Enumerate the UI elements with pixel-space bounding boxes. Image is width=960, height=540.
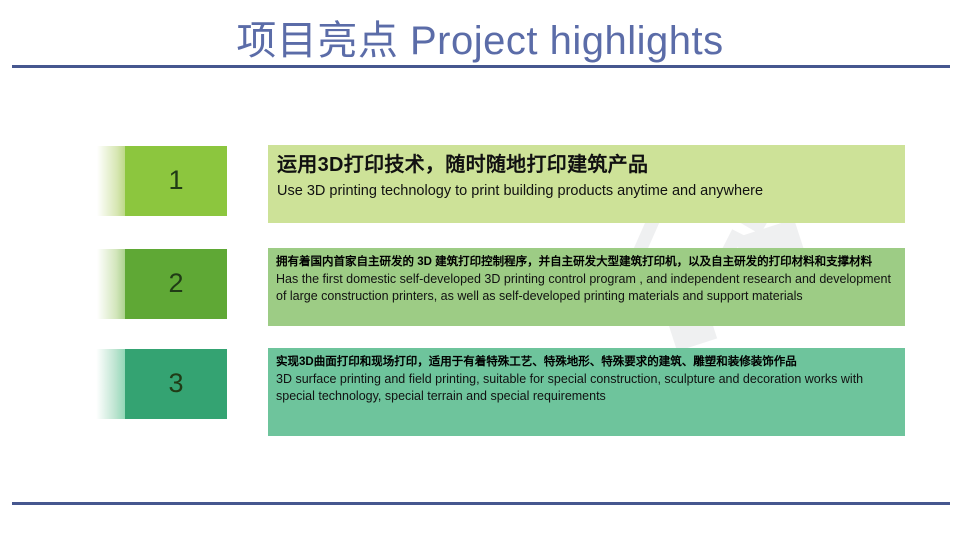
highlight-panel-1: 运用3D打印技术，随时随地打印建筑产品 Use 3D printing tech…: [268, 145, 905, 223]
highlight-panel-2: 拥有着国内首家自主研发的 3D 建筑打印控制程序，并自主研发大型建筑打印机，以及…: [268, 248, 905, 326]
title-divider: [12, 65, 950, 68]
badge-gradient-tab-3: [93, 349, 126, 419]
highlight-text-en-1: Use 3D printing technology to print buil…: [277, 182, 897, 202]
badge-number-1: 1: [168, 167, 183, 196]
badge-gradient-tab-1: [93, 146, 126, 216]
badge-box-3: 3: [125, 349, 227, 419]
highlight-text-en-2: Has the first domestic self-developed 3D…: [276, 271, 897, 307]
highlight-panel-3: 实现3D曲面打印和现场打印，适用于有着特殊工艺、特殊地形、特殊要求的建筑、雕塑和…: [268, 348, 905, 436]
highlight-row-2: 2 拥有着国内首家自主研发的 3D 建筑打印控制程序，并自主研发大型建筑打印机，…: [0, 248, 960, 326]
highlight-text-en-3: 3D surface printing and field printing, …: [276, 371, 897, 407]
badge-number-2: 2: [168, 270, 183, 299]
highlight-row-3: 3 实现3D曲面打印和现场打印，适用于有着特殊工艺、特殊地形、特殊要求的建筑、雕…: [0, 348, 960, 436]
slide-canvas: 项目亮点 Project highlights 1 运用3D打印技术，随时随地打…: [0, 0, 960, 540]
highlight-text-cn-2: 拥有着国内首家自主研发的 3D 建筑打印控制程序，并自主研发大型建筑打印机，以及…: [276, 255, 897, 271]
highlight-text-cn-3: 实现3D曲面打印和现场打印，适用于有着特殊工艺、特殊地形、特殊要求的建筑、雕塑和…: [276, 355, 897, 371]
badge-box-2: 2: [125, 249, 227, 319]
page-title: 项目亮点 Project highlights: [0, 8, 960, 66]
highlight-row-1: 1 运用3D打印技术，随时随地打印建筑产品 Use 3D printing te…: [0, 145, 960, 223]
footer-divider: [12, 502, 950, 505]
highlight-text-cn-1: 运用3D打印技术，随时随地打印建筑产品: [277, 153, 897, 178]
badge-number-3: 3: [168, 370, 183, 399]
badge-box-1: 1: [125, 146, 227, 216]
badge-gradient-tab-2: [93, 249, 126, 319]
